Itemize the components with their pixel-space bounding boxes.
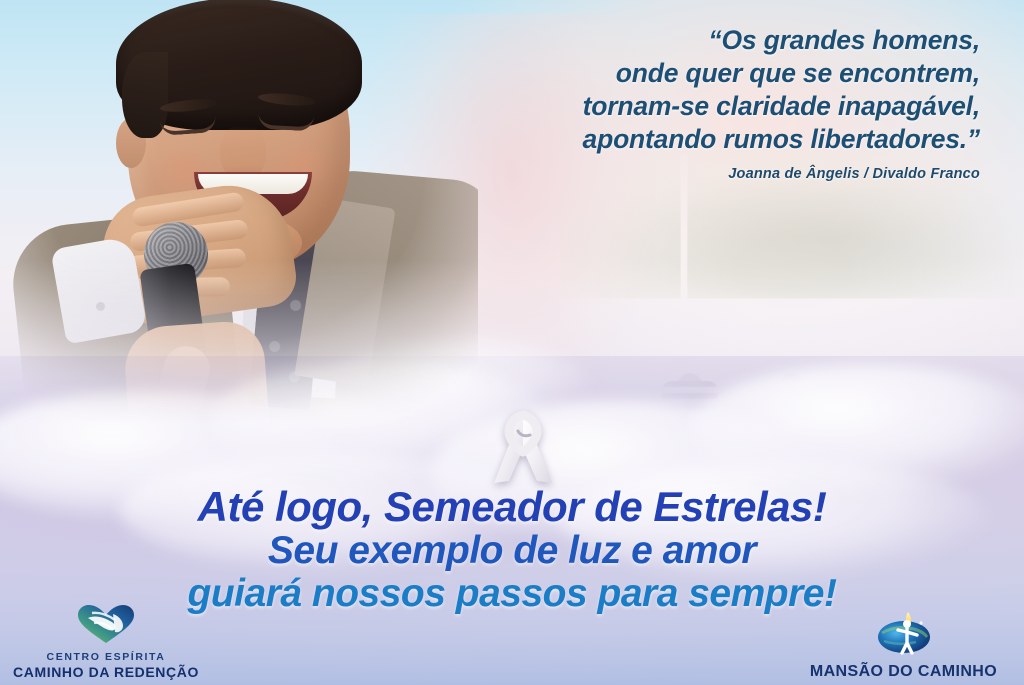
heart-hands-icon bbox=[6, 604, 206, 649]
headline-line-1: Até logo, Semeador de Estrelas! bbox=[0, 484, 1024, 529]
logo-left-line-1: CENTRO ESPÍRITA bbox=[6, 651, 206, 664]
quote-line-1: “Os grandes homens, bbox=[340, 24, 980, 57]
quote-line-3: tornam-se claridade inapagável, bbox=[340, 90, 980, 123]
memorial-poster: “Os grandes homens, onde quer que se enc… bbox=[0, 0, 1024, 685]
logo-mansao-do-caminho: MANSÃO DO CAMINHO bbox=[791, 611, 1016, 681]
quote-block: “Os grandes homens, onde quer que se enc… bbox=[340, 24, 980, 182]
globe-figure-flame-icon bbox=[791, 611, 1016, 660]
logo-centro-espirita: CENTRO ESPÍRITA CAMINHO DA REDENÇÃO bbox=[6, 604, 206, 681]
mourning-ribbon-icon bbox=[489, 409, 557, 487]
quote-attribution: Joanna de Ângelis / Divaldo Franco bbox=[340, 166, 980, 182]
hair bbox=[116, 0, 362, 130]
quote-line-2: onde quer que se encontrem, bbox=[340, 57, 980, 90]
logo-left-line-2: CAMINHO DA REDENÇÃO bbox=[6, 664, 206, 681]
logo-right-name: MANSÃO DO CAMINHO bbox=[791, 662, 1016, 681]
quote-line-4: apontando rumos libertadores.” bbox=[340, 123, 980, 156]
headline-line-2: Seu exemplo de luz e amor bbox=[0, 529, 1024, 572]
cuff-button bbox=[96, 302, 105, 311]
scene-wall bbox=[560, 299, 1024, 337]
headline-block: Até logo, Semeador de Estrelas! Seu exem… bbox=[0, 484, 1024, 616]
